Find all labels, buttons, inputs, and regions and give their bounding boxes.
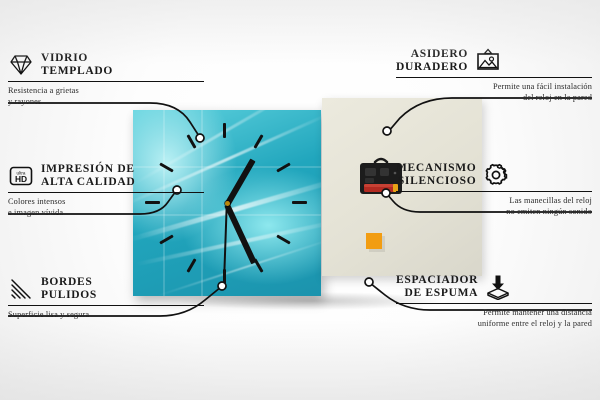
feature-title: ESPACIADOR DE ESPUMA: [396, 274, 478, 300]
feature-title: VIDRIO TEMPLADO: [41, 52, 113, 78]
svg-text:HD: HD: [15, 174, 27, 184]
feature-title: MECANISMO SILENCIOSO: [396, 162, 476, 188]
feature-header: BORDES PULIDOS: [8, 276, 204, 302]
feature-title: BORDES PULIDOS: [41, 276, 97, 302]
feature-divider: [8, 305, 204, 306]
foam-spacer-arrow-icon: [485, 274, 511, 300]
feature-espaciador-espuma: ESPACIADOR DE ESPUMA Permite mantener un…: [396, 274, 592, 329]
gear-icon: [483, 162, 509, 188]
feature-bordes-pulidos: BORDES PULIDOS Superficie lisa y segura: [8, 276, 204, 321]
ultra-hd-badge-icon: ultra HD: [8, 163, 34, 189]
feature-divider: [8, 81, 204, 82]
feature-vidrio-templado: VIDRIO TEMPLADO Resistencia a grietas y …: [8, 52, 204, 107]
feature-header: MECANISMO SILENCIOSO: [396, 162, 592, 188]
feature-divider: [8, 192, 204, 193]
feature-header: VIDRIO TEMPLADO: [8, 52, 204, 78]
polished-edges-icon: [8, 276, 34, 302]
feature-asidero-duradero: ASIDERO DURADERO Permite una fácil insta…: [396, 48, 592, 103]
feature-impresion-alta-calidad: ultra HD IMPRESIÓN DE ALTA CALIDAD Color…: [8, 163, 204, 218]
feature-header: ESPACIADOR DE ESPUMA: [396, 274, 592, 300]
feature-header: ultra HD IMPRESIÓN DE ALTA CALIDAD: [8, 163, 204, 189]
feature-mecanismo-silencioso: MECANISMO SILENCIOSO Las manecillas del …: [396, 162, 592, 217]
feature-title: ASIDERO DURADERO: [396, 48, 468, 74]
feature-header: ASIDERO DURADERO: [396, 48, 592, 74]
feature-divider: [396, 77, 592, 78]
product-infographic: VIDRIO TEMPLADO Resistencia a grietas y …: [0, 0, 600, 400]
framed-picture-hanger-icon: [475, 48, 501, 74]
feature-divider: [396, 191, 592, 192]
feature-divider: [396, 303, 592, 304]
feature-title: IMPRESIÓN DE ALTA CALIDAD: [41, 163, 135, 189]
diamond-icon: [8, 52, 34, 78]
